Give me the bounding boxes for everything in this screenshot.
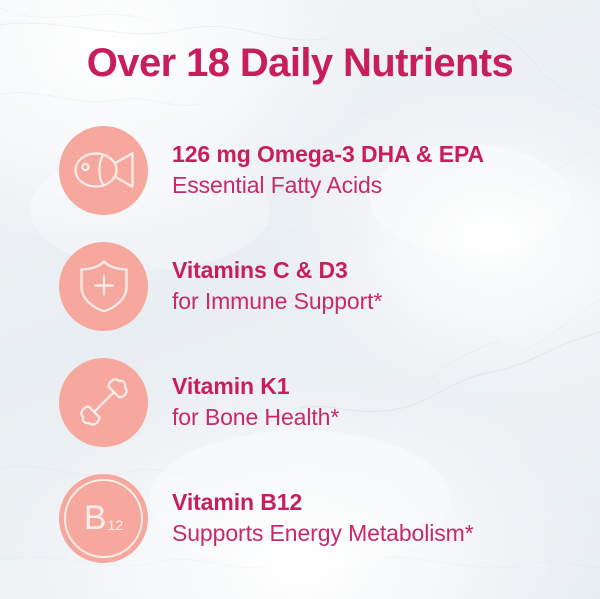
nutrient-text: 126 mg Omega-3 DHA & EPA Essential Fatty… <box>172 139 600 201</box>
nutrient-title: Vitamin K1 <box>172 371 586 402</box>
b12-glyph: B12 <box>84 501 123 535</box>
bone-icon <box>74 372 134 432</box>
list-item: 126 mg Omega-3 DHA & EPA Essential Fatty… <box>0 112 600 228</box>
page-title: Over 18 Daily Nutrients <box>0 38 600 88</box>
fish-icon-badge <box>59 126 148 215</box>
nutrient-subtitle: for Bone Health* <box>172 402 586 433</box>
nutrient-text: Vitamin K1 for Bone Health* <box>172 371 600 433</box>
nutrition-infographic: Over 18 Daily Nutrients 126 mg Omega-3 D… <box>0 0 600 599</box>
b12-circle-icon: B12 <box>59 474 148 563</box>
nutrient-title: Vitamin B12 <box>172 487 586 518</box>
list-item: Vitamin K1 for Bone Health* <box>0 344 600 460</box>
list-item: Vitamins C & D3 for Immune Support* <box>0 228 600 344</box>
list-item: B12 Vitamin B12 Supports Energy Metaboli… <box>0 460 600 576</box>
b12-subscript: 12 <box>107 518 124 535</box>
nutrient-text: Vitamin B12 Supports Energy Metabolism* <box>172 487 600 549</box>
nutrient-subtitle: Essential Fatty Acids <box>172 170 586 201</box>
shield-plus-icon-badge <box>59 242 148 331</box>
shield-plus-icon <box>78 258 130 314</box>
b12-letter: B <box>84 501 107 535</box>
nutrient-title: 126 mg Omega-3 DHA & EPA <box>172 139 586 170</box>
nutrient-list: 126 mg Omega-3 DHA & EPA Essential Fatty… <box>0 112 600 576</box>
nutrient-title: Vitamins C & D3 <box>172 255 586 286</box>
bone-icon-badge <box>59 358 148 447</box>
fish-icon <box>72 148 136 192</box>
nutrient-subtitle: for Immune Support* <box>172 286 586 317</box>
nutrient-subtitle: Supports Energy Metabolism* <box>172 518 586 549</box>
nutrient-text: Vitamins C & D3 for Immune Support* <box>172 255 600 317</box>
b12-circle-icon-badge: B12 <box>59 474 148 563</box>
